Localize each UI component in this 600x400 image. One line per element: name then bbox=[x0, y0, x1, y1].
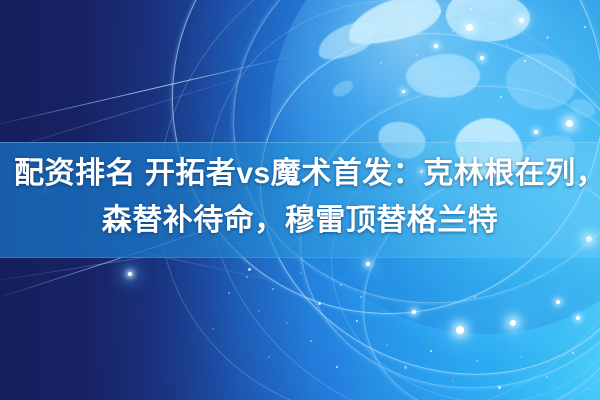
headline-line-2: 森替补待命，穆雷顶替格兰特 bbox=[14, 197, 586, 244]
banner-image: 配资排名 开拓者vs魔术首发：克林根在列，杨瀚 森替补待命，穆雷顶替格兰特 bbox=[0, 0, 600, 400]
headline-line-1: 配资排名 开拓者vs魔术首发：克林根在列，杨瀚 bbox=[14, 150, 586, 197]
headline: 配资排名 开拓者vs魔术首发：克林根在列，杨瀚 森替补待命，穆雷顶替格兰特 bbox=[0, 150, 600, 244]
band-bottom-edge bbox=[0, 257, 600, 258]
band-top-edge bbox=[0, 142, 600, 143]
